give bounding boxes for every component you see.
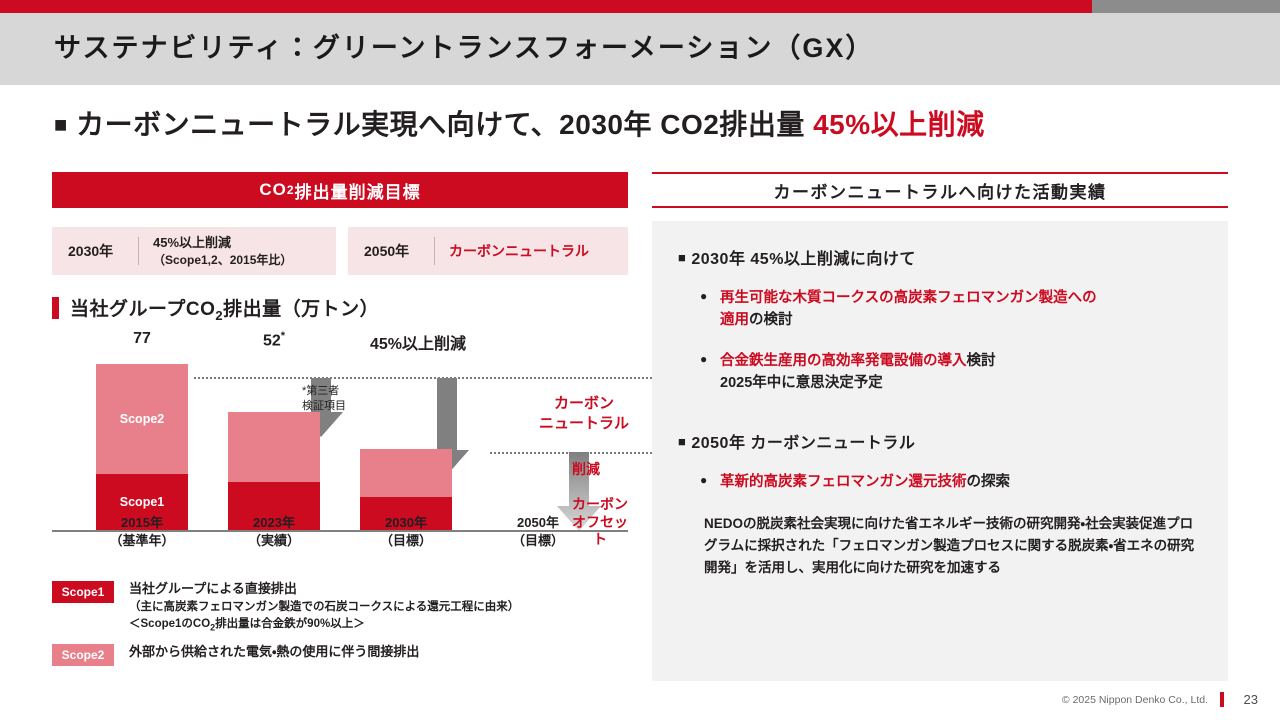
annotation-carbon-neutral: カーボン ニュートラル [504,394,664,433]
legend-chip-scope1: Scope1 [52,581,114,603]
xaxis-label-2050: 2050年 （目標） [478,514,598,549]
bullet-item: ● 合金鉄生産用の高効率発電設備の導入検討 2025年中に意思決定予定 [678,350,1206,395]
section-heading-2050: ■2050年 カーボンニュートラル [678,429,1206,453]
annotation-carbon-offset-line1: カーボン [572,496,628,514]
bullet-text-red-1: 再生可能な木質コークスの高炭素フェロマンガン製造への [720,290,1097,306]
xaxis-label-2030-year: 2030年 [346,514,466,532]
footer-page-number: 23 [1244,692,1258,707]
bar-2023-scope2-segment [228,412,320,482]
headline-black-text: カーボンニュートラル実現へ向けて、2030年 CO2排出量 [76,109,805,140]
bar-label-2015: 77 [96,330,188,348]
target-box-2030: 2030年 45%以上削減 （Scope1,2、2015年比） [52,227,336,275]
bullet-text-red-2: 適用 [720,312,749,328]
bullet-text-red-1: 革新的高炭素フェロマンガン還元技術 [720,474,967,490]
co2-banner-subscript: 2 [287,183,295,197]
target-2050-value: カーボンニュートラル [435,242,589,261]
activities-content-box: ■2030年 45%以上削減に向けて ● 再生可能な木質コークスの高炭素フェロマ… [652,221,1228,681]
bullet-dot-icon: ● [700,471,720,493]
chart-heading-marker-icon [52,297,59,319]
bullet-item: ● 再生可能な木質コークスの高炭素フェロマンガン製造への 適用の検討 [678,287,1206,332]
third-party-verification-note: *第三者 検証項目 [302,384,346,414]
section-heading-2030: ■2030年 45%以上削減に向けて [678,245,1206,269]
chart-heading-post: 排出量（万トン） [223,299,379,320]
left-panel: CO2排出量削減目標 2030年 45%以上削減 （Scope1,2、2015年… [52,172,628,672]
bullet-text: 再生可能な木質コークスの高炭素フェロマンガン製造への 適用の検討 [720,287,1097,332]
legend-scope1-line3-pre: ＜Scope1のCO [129,618,210,630]
bar-label-2023: 52* [228,330,320,350]
bar-label-2015-value: 77 [133,330,151,347]
chart-heading: 当社グループCO2排出量（万トン） [52,294,379,323]
bullet-text-black-2: 2025年中に意思決定予定 [720,375,883,391]
bar-2023 [228,412,320,530]
bullet-dot-icon: ● [700,350,720,395]
legend-scope2-line1: 外部から供給された電気・熱の使用に伴う間接排出 [129,643,419,662]
footer-divider-icon [1220,692,1224,707]
slide-title: サステナビリティ：グリーントランスフォーメーション（GX） [54,26,874,65]
bullet-text-black-1: の検討 [749,312,793,328]
nedo-paragraph: NEDOの脱炭素社会実現に向けた省エネルギー技術の研究開発・社会実装促進プログラ… [678,513,1206,579]
xaxis-label-2030: 2030年 （目標） [346,514,466,549]
chart-heading-sub: 2 [215,308,223,323]
right-panel: カーボンニュートラルへ向けた活動実績 ■2030年 45%以上削減に向けて ● … [652,172,1228,692]
bar-label-2030-value: 45%以上削減 [370,336,466,353]
target-2030-value-line1: 45%以上削減 [153,234,292,252]
top-accent-bar-red [0,0,1092,13]
legend-row-scope1: Scope1 当社グループによる直接排出 （主に高炭素フェロマンガン製造での石炭… [52,580,652,634]
chart-heading-text: 当社グループCO2排出量（万トン） [70,294,379,323]
xaxis-label-2050-year: 2050年 [478,514,598,532]
bullet-text-black-1: の探索 [967,474,1011,490]
bar-label-2023-value: 52 [263,332,281,349]
co2-banner-text-post: 排出量削減目標 [295,178,421,203]
activities-header-title: カーボンニュートラルへ向けた活動実績 [774,178,1107,203]
legend-scope1-line2: （主に高炭素フェロマンガン製造での石炭コークスによる還元工程に由来） [129,599,519,616]
bar-2015-scope1-label: Scope1 [96,495,188,509]
headline-marker-icon: ■ [54,112,68,137]
legend-text-scope2: 外部から供給された電気・熱の使用に伴う間接排出 [129,643,419,666]
section-2050-marker-icon: ■ [678,434,686,449]
chart-legend: Scope1 当社グループによる直接排出 （主に高炭素フェロマンガン製造での石炭… [52,580,652,675]
annotation-reduction: 削減 [572,460,600,478]
bullet-text-black-1: 検討 [967,353,996,369]
top-accent-bar-grey [0,0,1280,13]
bar-2030-scope2-segment [360,449,452,497]
bar-label-2030: 45%以上削減 [348,330,488,354]
annotation-carbon-neutral-line1: カーボン [504,394,664,414]
legend-chip-scope2: Scope2 [52,644,114,666]
target-2030-value-line2: （Scope1,2、2015年比） [153,252,292,268]
bullet-dot-icon: ● [700,287,720,332]
xaxis-label-2023-sub: （実績） [214,532,334,550]
legend-scope1-line1: 当社グループによる直接排出 [129,580,519,599]
verification-note-line1: *第三者 [302,384,346,399]
headline: ■ カーボンニュートラル実現へ向けて、2030年 CO2排出量 45%以上削減 [54,103,985,143]
co2-banner-text-pre: CO [259,180,287,200]
emissions-stacked-bar-chart: 77 52* 45%以上削減 *第三者 [52,332,628,542]
bullet-text: 合金鉄生産用の高効率発電設備の導入検討 2025年中に意思決定予定 [720,350,996,395]
bar-2015-scope2-label: Scope2 [96,412,188,426]
bar-label-2023-star: * [281,330,285,342]
bar-2015-scope2-segment: Scope2 [96,364,188,474]
section-2030-heading-text: 2030年 45%以上削減に向けて [691,251,916,268]
footer-copyright: © 2025 Nippon Denko Co., Ltd. [1062,694,1208,706]
target-2030-year: 2030年 [52,241,138,261]
target-box-row: 2030年 45%以上削減 （Scope1,2、2015年比） 2050年 カー… [52,227,628,275]
section-2030-marker-icon: ■ [678,250,686,265]
legend-scope1-line3: ＜Scope1のCO2排出量は合金鉄が90%以上＞ [129,616,519,634]
target-2030-value: 45%以上削減 （Scope1,2、2015年比） [139,234,292,268]
xaxis-label-2023: 2023年 （実績） [214,514,334,549]
legend-scope1-line3-post: 排出量は合金鉄が90%以上＞ [215,618,365,630]
bullet-item: ● 革新的高炭素フェロマンガン還元技術の探索 [678,471,1206,493]
bullet-text: 革新的高炭素フェロマンガン還元技術の探索 [720,471,1010,493]
xaxis-label-2015-year: 2015年 [82,514,202,532]
section-2050-heading-text: 2050年 カーボンニュートラル [691,435,915,452]
xaxis-label-2023-year: 2023年 [214,514,334,532]
xaxis-label-2050-sub: （目標） [478,532,598,550]
xaxis-label-2030-sub: （目標） [346,532,466,550]
bullet-text-red-1: 合金鉄生産用の高効率発電設備の導入 [720,353,967,369]
chart-heading-pre: 当社グループCO [70,299,215,320]
bar-2015: Scope2 Scope1 [96,364,188,530]
co2-target-banner: CO2排出量削減目標 [52,172,628,208]
activities-header: カーボンニュートラルへ向けた活動実績 [652,172,1228,208]
target-box-2050: 2050年 カーボンニュートラル [348,227,628,275]
headline-red-text: 45%以上削減 [813,109,985,140]
target-2050-year: 2050年 [348,241,434,261]
footer: © 2025 Nippon Denko Co., Ltd. 23 [0,690,1280,720]
xaxis-label-2015-sub: （基準年） [82,532,202,550]
xaxis-label-2015: 2015年 （基準年） [82,514,202,549]
legend-row-scope2: Scope2 外部から供給された電気・熱の使用に伴う間接排出 [52,643,652,666]
annotation-carbon-neutral-line2: ニュートラル [504,414,664,434]
legend-text-scope1: 当社グループによる直接排出 （主に高炭素フェロマンガン製造での石炭コークスによる… [129,580,519,634]
